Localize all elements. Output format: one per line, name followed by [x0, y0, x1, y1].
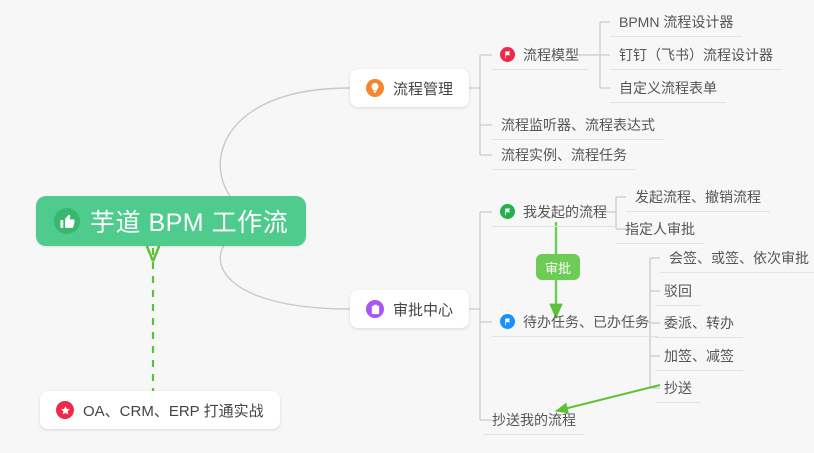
relation-label-approval[interactable]: 审批: [536, 254, 580, 280]
node-bpmn-designer[interactable]: BPMN 流程设计器: [610, 7, 742, 37]
node-todo-done[interactable]: 待办任务、已办任务: [492, 307, 658, 337]
node-instance-task[interactable]: 流程实例、流程任务: [492, 140, 636, 170]
clipboard-icon: [366, 300, 384, 318]
floating-node-label: OA、CRM、ERP 打通实战: [83, 400, 264, 421]
node-label: 驳回: [664, 281, 692, 301]
flag-icon: [500, 204, 515, 219]
node-reject[interactable]: 驳回: [655, 276, 701, 306]
node-label: 抄送: [664, 378, 692, 398]
branch-approval-center[interactable]: 审批中心: [350, 290, 469, 328]
node-label: 流程实例、流程任务: [501, 145, 627, 165]
node-countersign[interactable]: 会签、或签、依次审批: [660, 243, 814, 273]
node-label: 流程监听器、流程表达式: [501, 115, 655, 135]
node-start-cancel[interactable]: 发起流程、撤销流程: [626, 182, 770, 212]
node-label: 会签、或签、依次审批: [669, 248, 809, 268]
node-my-initiated[interactable]: 我发起的流程: [492, 197, 616, 227]
node-label: 指定人审批: [625, 219, 695, 239]
flag-icon: [500, 314, 515, 329]
branch-label: 审批中心: [393, 299, 453, 320]
node-process-model[interactable]: 流程模型: [492, 40, 588, 70]
node-assignee-approval[interactable]: 指定人审批: [616, 214, 704, 244]
relation-label-text: 审批: [545, 258, 571, 277]
root-label: 芋道 BPM 工作流: [90, 203, 288, 239]
branch-label: 流程管理: [393, 78, 453, 99]
node-label: 我发起的流程: [523, 202, 607, 222]
node-delegate-transfer[interactable]: 委派、转办: [655, 308, 743, 338]
node-label: 抄送我的流程: [492, 410, 576, 430]
mindmap-canvas: 待办任务 --> 芋道 BPM 工作流 流程管理: [0, 0, 814, 453]
branch-process-management[interactable]: 流程管理: [350, 69, 469, 107]
node-cc[interactable]: 抄送: [655, 373, 701, 403]
node-label: 发起流程、撤销流程: [635, 187, 761, 207]
node-add-remove-sign[interactable]: 加签、减签: [655, 341, 743, 371]
floating-node-integration-practice[interactable]: OA、CRM、ERP 打通实战: [40, 391, 280, 429]
star-circle-icon: [56, 401, 74, 419]
node-listener-expression[interactable]: 流程监听器、流程表达式: [492, 110, 664, 140]
node-label: 流程模型: [523, 45, 579, 65]
node-label: 加签、减签: [664, 346, 734, 366]
node-label: 待办任务、已办任务: [523, 312, 649, 332]
node-label: 委派、转办: [664, 313, 734, 333]
lightbulb-icon: [366, 79, 384, 97]
node-dingtalk-feishu-designer[interactable]: 钉钉（飞书）流程设计器: [610, 40, 782, 70]
thumbs-up-icon: [54, 208, 80, 234]
root-node[interactable]: 芋道 BPM 工作流: [36, 196, 306, 246]
node-label: 钉钉（飞书）流程设计器: [619, 45, 773, 65]
node-custom-process-form[interactable]: 自定义流程表单: [610, 73, 726, 103]
flag-icon: [500, 47, 515, 62]
node-label: BPMN 流程设计器: [619, 12, 733, 32]
node-label: 自定义流程表单: [619, 78, 717, 98]
node-cc-to-me[interactable]: 抄送我的流程: [483, 405, 585, 435]
